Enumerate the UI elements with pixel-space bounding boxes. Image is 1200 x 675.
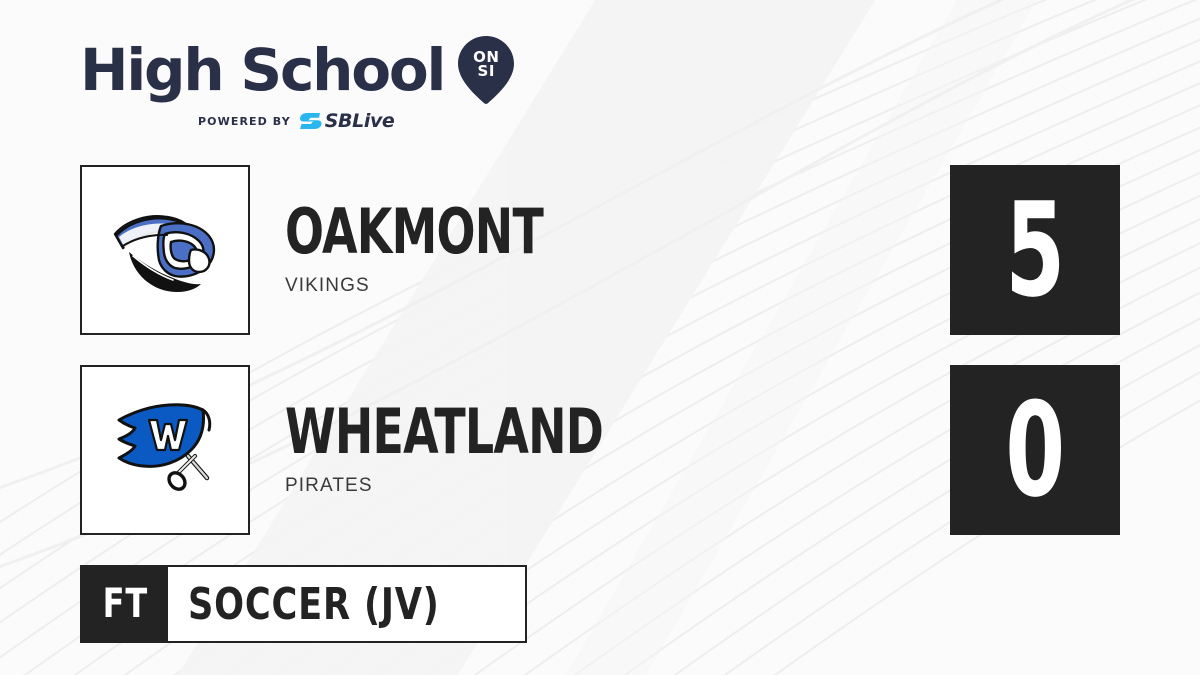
team-mascot: PIRATES: [285, 475, 715, 497]
team-score-box: 0: [950, 365, 1120, 535]
pirate-flag-logo-icon: [103, 388, 227, 512]
viking-head-logo-icon: [105, 190, 225, 310]
team-score-box: 5: [950, 165, 1120, 335]
sblive-logo: SBLive: [300, 110, 395, 132]
team-row: OAKMONT VIKINGS: [80, 165, 634, 335]
team-row: WHEATLAND PIRATES: [80, 365, 715, 535]
team-text-block: OAKMONT VIKINGS: [285, 203, 634, 296]
on-si-pin-label: ON SI: [458, 50, 514, 78]
sblive-s-mark: [300, 112, 322, 130]
powered-by-row: POWERED BY SBLive: [198, 110, 514, 132]
team-mascot: VIKINGS: [285, 275, 634, 297]
game-status-bar: FT SOCCER (JV): [80, 565, 527, 643]
status-code-badge: FT: [82, 567, 168, 641]
team-name: OAKMONT: [285, 203, 543, 260]
status-code-label: FT: [102, 581, 147, 627]
pin-label-line2: SI: [458, 64, 514, 78]
team-score: 5: [1005, 185, 1065, 315]
team-logo-box: [80, 165, 250, 335]
sport-label: SOCCER (JV): [188, 579, 440, 630]
sblive-wordmark: SBLive: [325, 110, 395, 132]
brand-wordmark: High School: [80, 42, 444, 99]
team-name: WHEATLAND: [285, 403, 603, 460]
team-text-block: WHEATLAND PIRATES: [285, 403, 715, 496]
team-logo-box: [80, 365, 250, 535]
on-si-pin-icon: ON SI: [458, 36, 514, 104]
brand-header: High School ON SI POWERED BY SBLive: [80, 36, 514, 132]
brand-logo-row: High School ON SI: [80, 36, 514, 104]
sport-label-container: SOCCER (JV): [168, 567, 525, 641]
powered-by-label: POWERED BY: [198, 115, 291, 128]
team-score: 0: [1005, 385, 1065, 515]
